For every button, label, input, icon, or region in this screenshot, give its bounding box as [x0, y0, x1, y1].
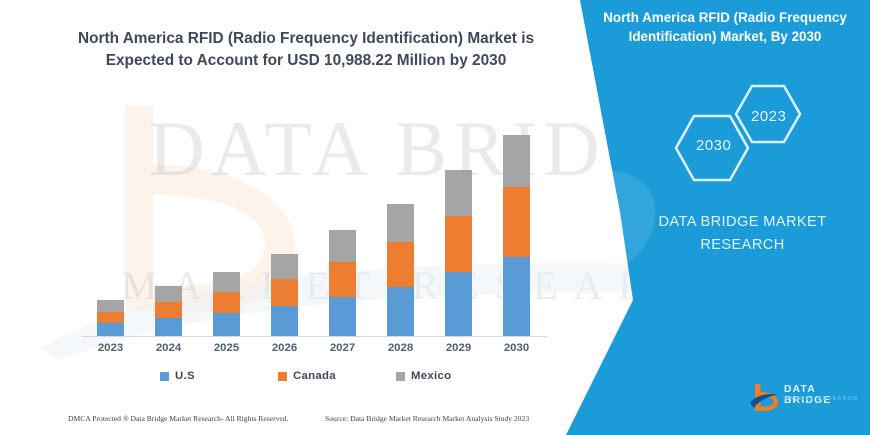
logo-text-secondary: MARKET RESEARCH	[784, 396, 858, 402]
hexagon-shapes-icon	[672, 84, 862, 184]
hexagon-label-2030: 2030	[696, 137, 731, 154]
right-panel: North America RFID (Radio Frequency Iden…	[0, 0, 870, 435]
panel-title: North America RFID (Radio Frequency Iden…	[586, 8, 864, 46]
brand-name: DATA BRIDGE MARKET RESEARCH	[625, 211, 860, 256]
infographic-canvas: DATA BRIDGE MARKET RESEARCH North Americ…	[0, 0, 870, 435]
hexagon-badges: 2030 2023	[672, 84, 862, 184]
logo-mark-icon	[748, 381, 782, 415]
company-logo[interactable]: DATA BRIDGE MARKET RESEARCH	[748, 381, 860, 417]
logo-text-primary: DATA BRIDGE	[784, 384, 860, 406]
hexagon-label-2023: 2023	[751, 108, 786, 125]
